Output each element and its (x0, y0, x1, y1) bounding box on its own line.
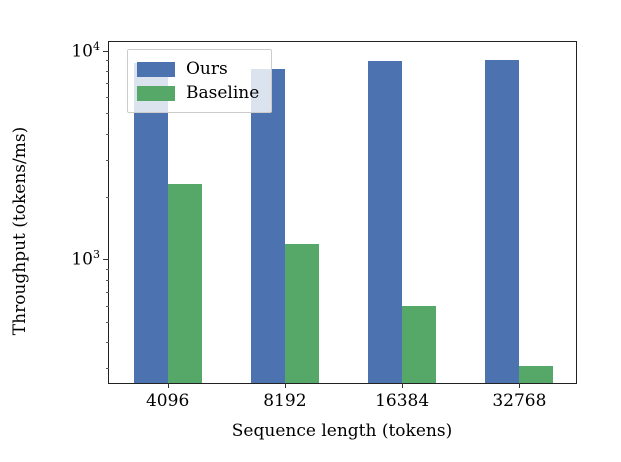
y-minor-tick-mark (106, 160, 110, 161)
bar-baseline-16384 (402, 306, 436, 383)
y-minor-tick-mark (106, 113, 110, 114)
y-minor-tick-mark (106, 292, 110, 293)
chart-legend: Ours Baseline (127, 49, 272, 113)
y-minor-tick-mark (106, 97, 110, 98)
x-tick-label: 4096 (146, 391, 189, 411)
y-minor-tick-mark (106, 71, 110, 72)
y-minor-tick-mark (106, 197, 110, 198)
x-tick-mark (519, 383, 520, 388)
bar-baseline-4096 (168, 184, 202, 383)
y-minor-tick-mark (106, 60, 110, 61)
y-tick-mark (103, 51, 109, 52)
x-tick-mark (285, 383, 286, 388)
figure-canvas: Throughput (tokens/ms) Sequence length (… (0, 0, 621, 462)
y-tick-label: 103 (71, 249, 100, 269)
y-axis-title: Throughput (tokens/ms) (10, 127, 30, 335)
y-minor-tick-mark (106, 306, 110, 307)
bar-baseline-8192 (285, 244, 319, 383)
y-minor-tick-mark (106, 342, 110, 343)
x-tick-label: 16384 (375, 391, 429, 411)
legend-swatch-ours (137, 62, 175, 77)
legend-label-baseline: Baseline (186, 85, 259, 102)
legend-item-baseline: Baseline (137, 81, 259, 105)
legend-label-ours: Ours (186, 61, 228, 78)
y-tick-label: 104 (71, 40, 100, 60)
y-minor-tick-mark (106, 322, 110, 323)
plot-axes: 103104409681921638432768 Ours Baseline (108, 41, 577, 384)
bar-baseline-32768 (519, 366, 553, 384)
bar-ours-32768 (485, 60, 519, 383)
x-tick-mark (168, 383, 169, 388)
bar-ours-8192 (251, 69, 285, 383)
y-minor-tick-mark (106, 83, 110, 84)
legend-swatch-baseline (137, 86, 175, 101)
bar-ours-16384 (368, 61, 402, 383)
y-tick-mark (103, 259, 109, 260)
x-tick-label: 32768 (492, 391, 546, 411)
x-tick-mark (402, 383, 403, 388)
y-minor-tick-mark (106, 134, 110, 135)
x-tick-label: 8192 (263, 391, 306, 411)
y-minor-tick-mark (106, 269, 110, 270)
legend-item-ours: Ours (137, 57, 259, 81)
x-axis-title: Sequence length (tokens) (232, 421, 452, 441)
y-minor-tick-mark (106, 280, 110, 281)
y-minor-tick-mark (106, 368, 110, 369)
